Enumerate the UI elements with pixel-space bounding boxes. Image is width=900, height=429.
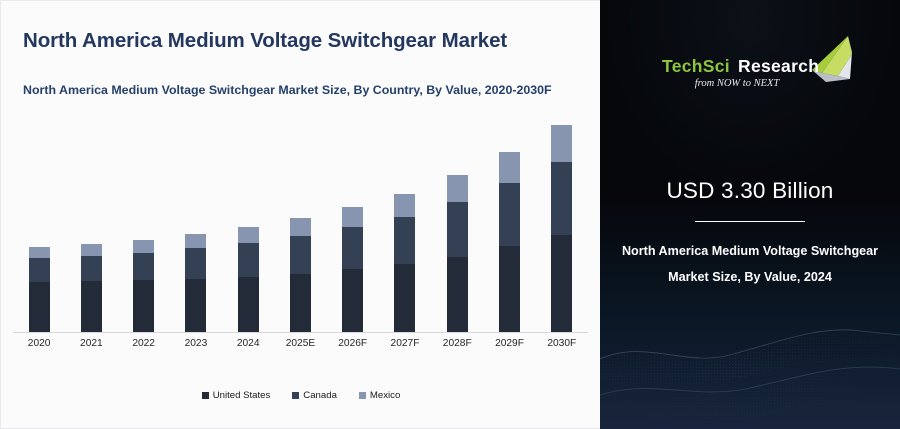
bar-segment-united-states[interactable] xyxy=(342,269,363,332)
x-axis-label-2023: 2023 xyxy=(173,338,219,349)
bar-segment-united-states[interactable] xyxy=(133,280,154,332)
value-divider xyxy=(695,221,805,222)
bar-segment-canada[interactable] xyxy=(447,202,468,256)
bar-chart-plot xyxy=(13,121,588,332)
x-axis-line xyxy=(13,332,588,333)
x-axis-label-2025e: 2025E xyxy=(277,338,323,349)
legend-item-united-states[interactable]: United States xyxy=(202,390,271,401)
x-axis-tick-labels: 202020212022202320242025E2026F2027F2028F… xyxy=(13,338,588,349)
bar-segment-canada[interactable] xyxy=(185,248,206,279)
bar-segment-united-states[interactable] xyxy=(551,235,572,333)
chart-subtitle: North America Medium Voltage Switchgear … xyxy=(23,78,583,103)
bar-segment-mexico[interactable] xyxy=(133,240,154,253)
bar-segment-mexico[interactable] xyxy=(238,227,259,243)
bar-group[interactable] xyxy=(185,121,206,332)
bar-segment-united-states[interactable] xyxy=(238,277,259,332)
bar-group[interactable] xyxy=(551,121,572,332)
bar-segment-canada[interactable] xyxy=(290,236,311,274)
bar-segment-mexico[interactable] xyxy=(342,207,363,227)
bar-group[interactable] xyxy=(342,121,363,332)
bar-segment-mexico[interactable] xyxy=(290,218,311,236)
x-axis-label-2020: 2020 xyxy=(16,338,62,349)
bar-group[interactable] xyxy=(499,121,520,332)
logo-text-techsci: TechSci xyxy=(662,56,730,76)
bar-group[interactable] xyxy=(238,121,259,332)
legend-swatch-icon xyxy=(359,392,366,399)
value-caption: North America Medium Voltage Switchgear … xyxy=(614,238,886,291)
bar-segment-canada[interactable] xyxy=(133,253,154,280)
bar-group[interactable] xyxy=(447,121,468,332)
bar-segment-canada[interactable] xyxy=(342,227,363,269)
legend-label: Canada xyxy=(303,390,337,401)
bar-segment-mexico[interactable] xyxy=(29,247,50,258)
market-infographic: North America Medium Voltage Switchgear … xyxy=(0,0,900,429)
bar-segment-united-states[interactable] xyxy=(499,246,520,332)
headline-value: USD 3.30 Billion xyxy=(600,178,900,204)
bar-group[interactable] xyxy=(81,121,102,332)
x-axis-label-2027f: 2027F xyxy=(382,338,428,349)
bar-segment-canada[interactable] xyxy=(81,256,102,281)
page-title: North America Medium Voltage Switchgear … xyxy=(23,29,583,54)
x-axis-label-2030f: 2030F xyxy=(539,338,585,349)
bar-segment-mexico[interactable] xyxy=(447,175,468,202)
bar-segment-united-states[interactable] xyxy=(29,282,50,333)
bar-group[interactable] xyxy=(29,121,50,332)
bar-group[interactable] xyxy=(394,121,415,332)
chart-panel: North America Medium Voltage Switchgear … xyxy=(0,0,600,429)
dot-mesh-wave-graphic xyxy=(600,319,900,429)
logo-tagline: from NOW to NEXT xyxy=(695,78,781,89)
legend-swatch-icon xyxy=(292,392,299,399)
legend-label: United States xyxy=(213,390,271,401)
bar-segment-canada[interactable] xyxy=(29,258,50,281)
bar-segment-united-states[interactable] xyxy=(290,274,311,332)
bar-segment-mexico[interactable] xyxy=(81,244,102,256)
x-axis-label-2022: 2022 xyxy=(121,338,167,349)
legend-item-mexico[interactable]: Mexico xyxy=(359,390,400,401)
bar-segment-canada[interactable] xyxy=(394,217,415,264)
bar-segment-canada[interactable] xyxy=(499,183,520,246)
legend-label: Mexico xyxy=(370,390,400,401)
bar-segment-canada[interactable] xyxy=(551,162,572,235)
bar-group[interactable] xyxy=(133,121,154,332)
chart-legend: United StatesCanadaMexico xyxy=(1,390,601,401)
x-axis-label-2028f: 2028F xyxy=(434,338,480,349)
bar-segment-united-states[interactable] xyxy=(81,281,102,332)
legend-item-canada[interactable]: Canada xyxy=(292,390,337,401)
bar-segment-mexico[interactable] xyxy=(185,234,206,249)
x-axis-label-2024: 2024 xyxy=(225,338,271,349)
x-axis-label-2026f: 2026F xyxy=(330,338,376,349)
bar-segment-mexico[interactable] xyxy=(551,125,572,162)
legend-swatch-icon xyxy=(202,392,209,399)
bar-segment-mexico[interactable] xyxy=(394,194,415,217)
value-card-panel: TechSci Research from NOW to NEXT USD 3.… xyxy=(600,0,900,429)
x-axis-label-2029f: 2029F xyxy=(487,338,533,349)
bar-segment-united-states[interactable] xyxy=(447,257,468,332)
brand-logo: TechSci Research from NOW to NEXT xyxy=(600,30,900,94)
techsci-research-logo-graphic: TechSci Research from NOW to NEXT xyxy=(600,30,900,94)
x-axis-label-2021: 2021 xyxy=(68,338,114,349)
bar-group[interactable] xyxy=(290,121,311,332)
logo-text-research: Research xyxy=(738,56,819,76)
bar-segment-mexico[interactable] xyxy=(499,152,520,183)
bar-segment-canada[interactable] xyxy=(238,243,259,277)
bar-segment-united-states[interactable] xyxy=(394,264,415,332)
bar-segment-united-states[interactable] xyxy=(185,279,206,332)
